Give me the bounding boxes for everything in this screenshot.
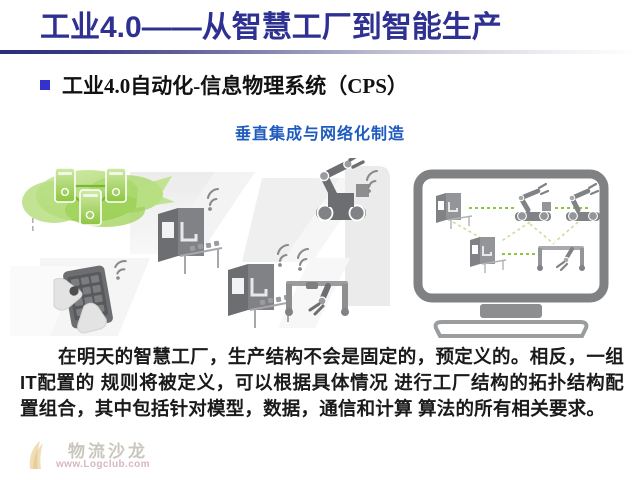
cloud-server-icon: [106, 168, 126, 202]
watermark-swoosh-icon: [26, 439, 56, 471]
bullet-heading-row: 工业4.0自动化-信息物理系统（CPS）: [40, 70, 408, 100]
cloud-server-icon: [55, 168, 75, 202]
square-bullet-icon: [40, 80, 50, 90]
slide-canvas: 工业4.0——从智慧工厂到智能生产 工业4.0自动化-信息物理系统（CPS） 垂…: [0, 0, 640, 480]
bullet-heading-label: 工业4.0自动化-信息物理系统（CPS）: [62, 70, 408, 100]
watermark-url-text: www.Logclub.com: [56, 459, 150, 470]
cloud-server-icon: [80, 190, 101, 225]
title-divider-rule: [0, 50, 640, 54]
cloud-tick-marks: [32, 218, 34, 231]
page-title: 工业4.0——从智慧工厂到智能生产: [40, 8, 502, 48]
industry-diagram-image: [10, 158, 630, 338]
body-paragraph: 在明天的智慧工厂，生产结构不会是固定的，预定义的。相反，一组IT配置的 规则将被…: [20, 344, 624, 422]
watermark: 物流沙龙 www.Logclub.com: [26, 437, 196, 477]
subheading-label: 垂直集成与网络化制造: [0, 120, 640, 144]
slide-header: 工业4.0——从智慧工厂到智能生产: [0, 8, 640, 54]
